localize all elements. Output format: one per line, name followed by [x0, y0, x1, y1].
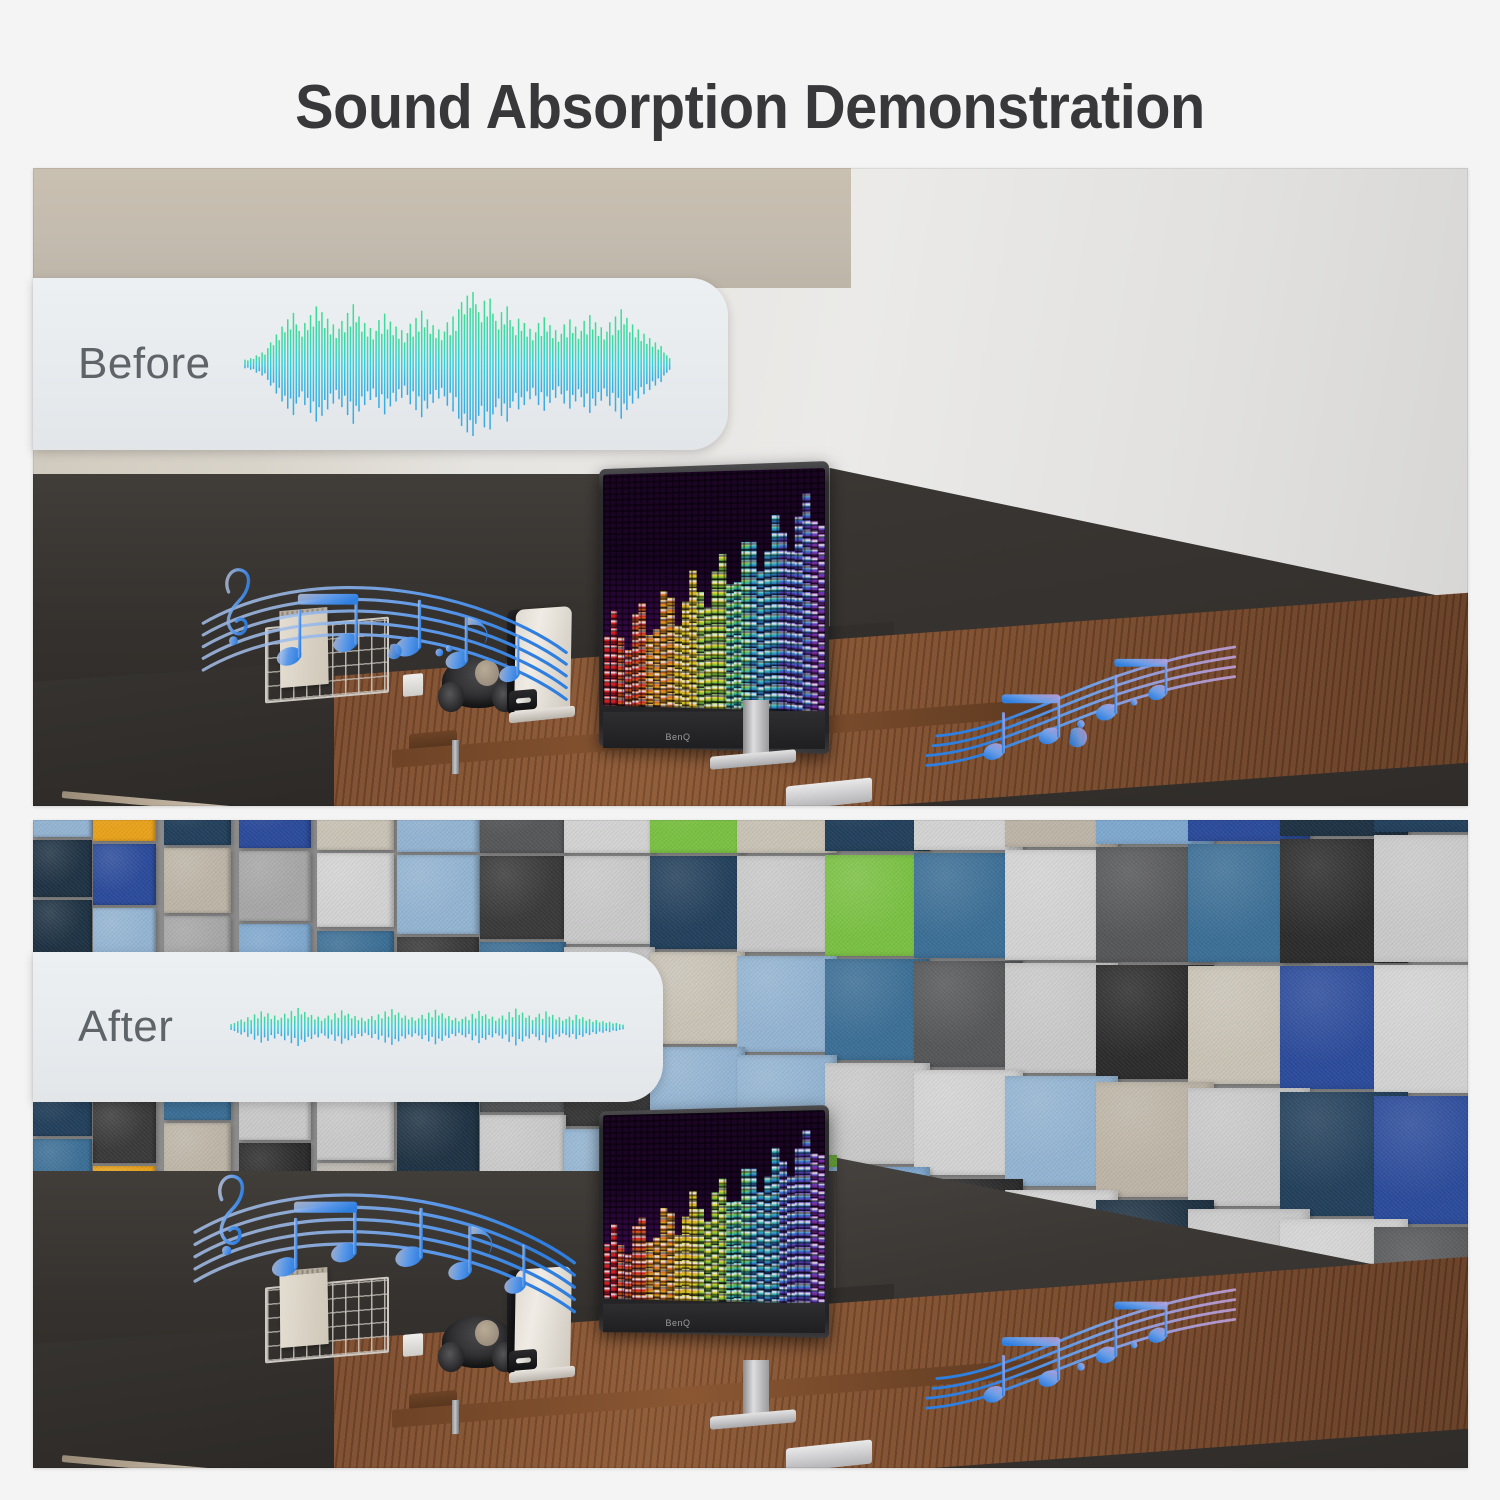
acoustic-panel-tile — [317, 853, 394, 928]
equalizer-column — [794, 1149, 801, 1303]
equalizer-column — [741, 542, 748, 710]
equalizer-column — [764, 1176, 771, 1302]
equalizer-column — [624, 650, 631, 706]
after-label-card: After — [33, 952, 663, 1102]
equalizer-column — [787, 552, 794, 711]
acoustic-panel-tile — [33, 840, 92, 897]
equalizer-column — [697, 1209, 704, 1301]
equalizer-column — [711, 1192, 718, 1301]
headphone-ear-disc — [475, 660, 499, 686]
acoustic-panel-tile — [397, 820, 479, 852]
equalizer-column — [646, 635, 653, 707]
equalizer-column — [756, 1192, 763, 1302]
equalizer-column — [749, 1169, 756, 1302]
equalizer-column — [646, 1243, 653, 1300]
equalizer-column — [719, 554, 726, 708]
small-white-box — [403, 1333, 423, 1357]
before-label: Before — [78, 342, 243, 386]
acoustic-panel-tile — [650, 856, 745, 948]
curved-monitor: BenQ — [581, 1105, 829, 1338]
acoustic-panel-tile — [737, 856, 837, 953]
acoustic-panel-tile — [1374, 835, 1468, 963]
acoustic-panel-tile — [737, 820, 837, 853]
acoustic-panel-tile — [164, 820, 232, 845]
equalizer-column — [617, 637, 624, 705]
acoustic-panel-tile — [33, 820, 92, 837]
equalizer-column — [802, 1130, 809, 1303]
equalizer-column — [779, 1161, 786, 1303]
monitor-brand-mark: BenQ — [666, 732, 691, 742]
after-label: After — [78, 1005, 228, 1049]
equalizer-column — [726, 584, 733, 709]
equalizer-column — [697, 592, 704, 708]
equalizer-column — [802, 493, 809, 711]
equalizer-column — [631, 614, 638, 706]
equalizer-column — [660, 591, 667, 707]
equalizer-column — [810, 1153, 817, 1304]
spiral-notepad — [279, 1267, 328, 1348]
equalizer-column — [682, 1217, 689, 1301]
equalizer-column — [734, 1201, 741, 1302]
monitor-stand-neck — [743, 1360, 769, 1414]
acoustic-panel-tile — [239, 820, 312, 848]
speaker-indicator — [509, 1349, 537, 1371]
acoustic-panel-tile — [480, 820, 566, 853]
equalizer-column — [787, 1177, 794, 1303]
equalizer-column — [603, 1244, 610, 1299]
equalizer-column — [603, 636, 610, 705]
equalizer-column — [711, 571, 718, 708]
equalizer-column — [660, 1208, 667, 1300]
equalizer-column — [675, 1235, 682, 1300]
equalizer-column — [639, 1218, 646, 1300]
acoustic-panel-tile — [1374, 965, 1468, 1093]
equalizer-column — [779, 532, 786, 710]
equalizer-column — [689, 1192, 696, 1301]
equalizer-column — [734, 583, 741, 709]
curved-monitor: BenQ — [581, 461, 829, 754]
equalizer-column — [689, 570, 696, 707]
equalizer-column — [756, 571, 763, 709]
equalizer-column — [726, 1203, 733, 1302]
acoustic-panel-tile — [164, 848, 232, 914]
equalizer-column — [818, 1155, 825, 1304]
speaker-indicator — [509, 689, 537, 711]
equalizer-column — [610, 1224, 617, 1299]
riser-leg — [452, 1400, 459, 1434]
after-waveform — [228, 967, 628, 1087]
spiral-notepad — [279, 607, 328, 688]
equalizer-column — [704, 1221, 711, 1301]
equalizer-column — [653, 1238, 660, 1300]
acoustic-panel-tile — [737, 956, 837, 1053]
equalizer-column — [741, 1169, 748, 1302]
equalizer-column — [771, 1148, 778, 1303]
equalizer-column — [764, 551, 771, 710]
monitor-chin — [603, 711, 825, 749]
after-photo: BenQ — [33, 820, 1468, 1468]
acoustic-panel-tile — [650, 820, 745, 853]
acoustic-panel-tile — [93, 820, 156, 841]
equalizer-column — [667, 1213, 674, 1300]
equalizer-column — [631, 1226, 638, 1299]
equalizer-column — [639, 603, 646, 706]
equalizer-column — [719, 1179, 726, 1302]
riser-leg — [452, 740, 459, 774]
wall-upper-beige — [33, 168, 851, 288]
equalizer-column — [610, 611, 617, 705]
acoustic-panel-tile — [480, 856, 566, 940]
equalizer-column — [667, 597, 674, 707]
before-waveform — [243, 289, 673, 439]
equalizer-column — [818, 524, 825, 711]
acoustic-panel-tile — [564, 820, 655, 853]
equalizer-column — [771, 515, 778, 710]
acoustic-panel-tile — [397, 855, 479, 934]
acoustic-panel-tile — [93, 844, 156, 905]
acoustic-panel-tile — [33, 900, 92, 957]
before-label-card: Before — [33, 278, 728, 450]
equalizer-column — [624, 1255, 631, 1299]
equalizer-column — [617, 1245, 624, 1299]
equalizer-column — [749, 542, 756, 709]
equalizer-column — [653, 629, 660, 707]
monitor-brand-mark: BenQ — [666, 1318, 691, 1328]
acoustic-panel-tile — [239, 851, 312, 921]
page-title: Sound Absorption Demonstration — [53, 72, 1448, 143]
equalizer-column — [810, 522, 817, 712]
small-white-box — [403, 673, 423, 697]
acoustic-panel-tile — [317, 820, 394, 850]
equalizer-column — [794, 517, 801, 711]
acoustic-panel-tile — [1374, 820, 1468, 832]
headphone-ear-disc — [475, 1320, 499, 1346]
equalizer-column — [704, 608, 711, 708]
monitor-screen — [603, 1110, 825, 1304]
acoustic-panel-tile — [564, 856, 655, 944]
monitor-stand-neck — [743, 700, 769, 754]
monitor-chin — [603, 1303, 825, 1333]
acoustic-panel-tile — [650, 952, 745, 1044]
before-photo: BenQ — [33, 168, 1468, 806]
monitor-screen — [603, 468, 825, 712]
equalizer-column — [675, 625, 682, 707]
equalizer-column — [682, 602, 689, 708]
